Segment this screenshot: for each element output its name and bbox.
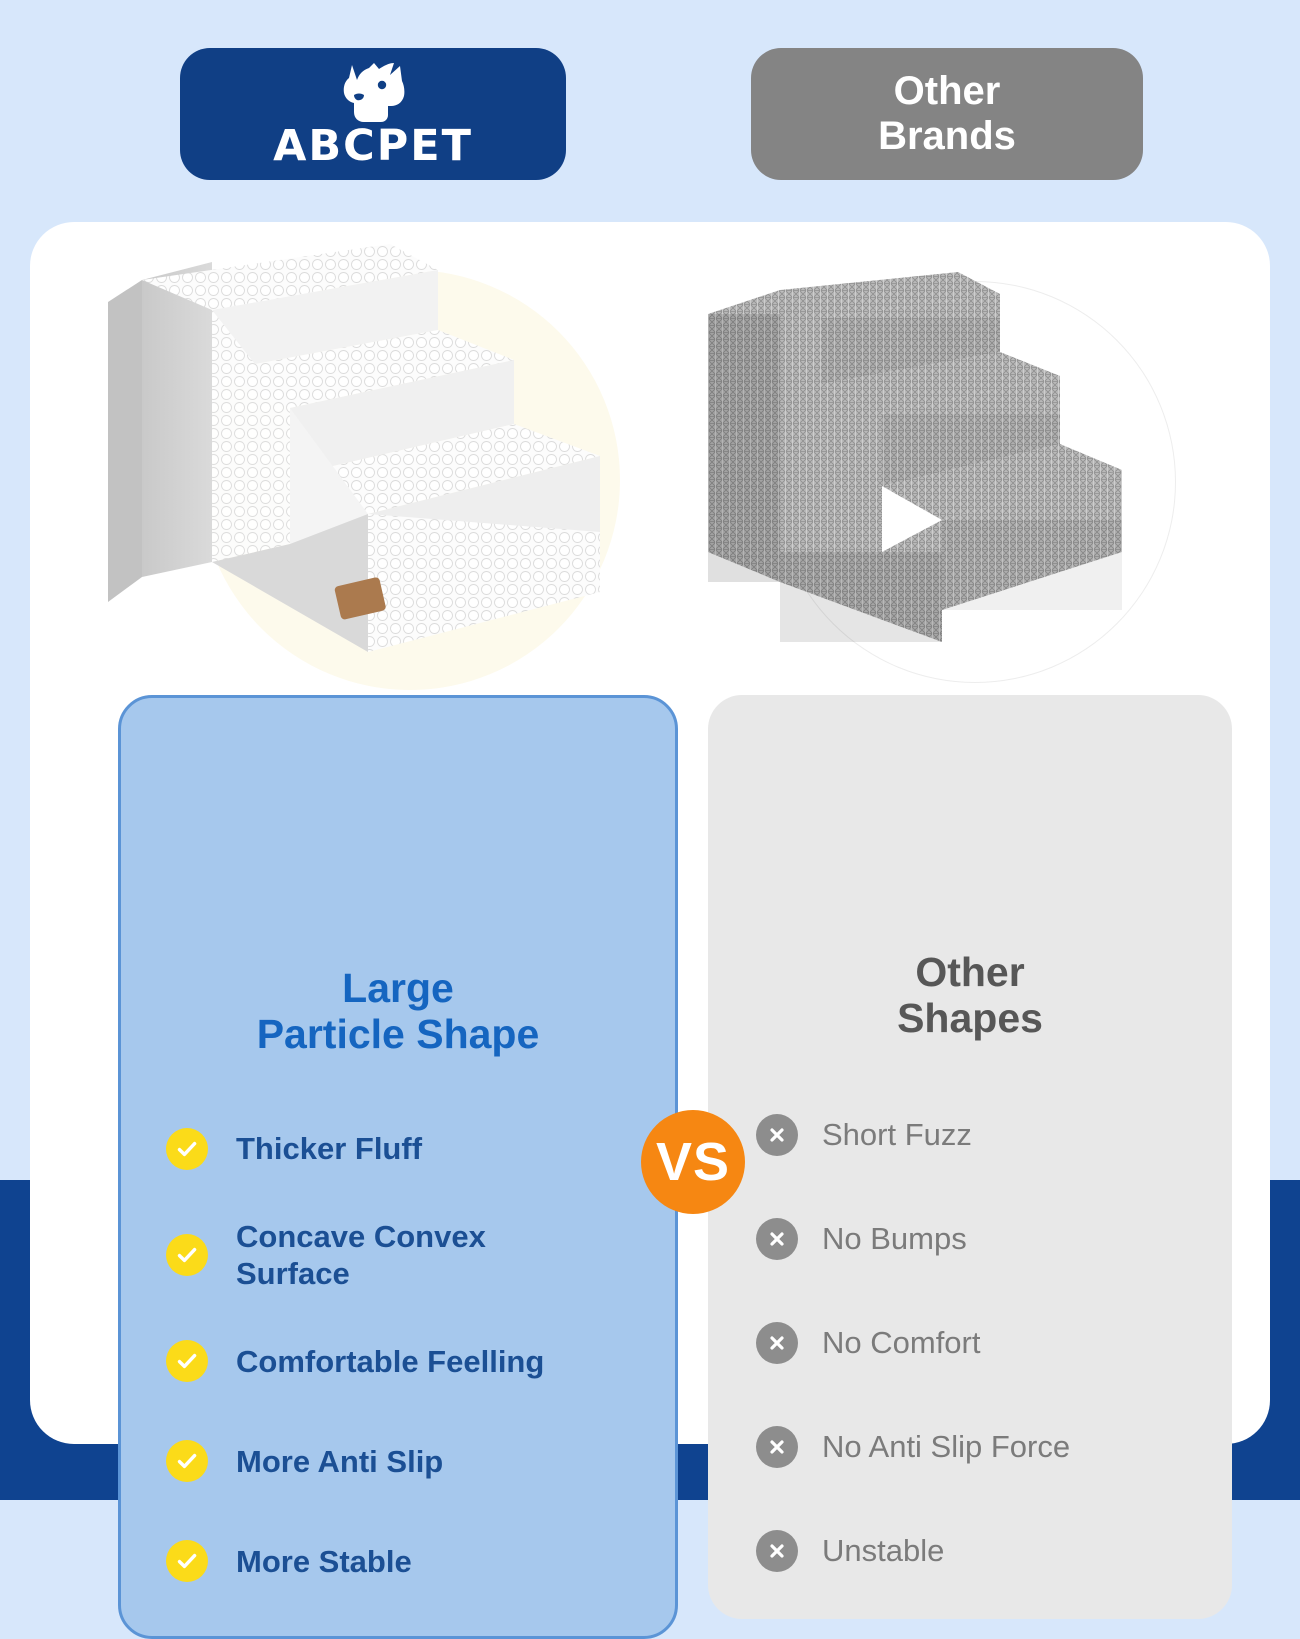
list-item: More Stable [166, 1530, 675, 1592]
vs-badge: VS [641, 1110, 745, 1214]
cross-icon [756, 1218, 798, 1260]
brand-wordmark: ABCPET [273, 125, 473, 168]
header-badges: ABCPET Other Brands [0, 48, 1300, 180]
left-feature-list: Thicker Fluff Concave Convex Surface Com… [166, 1118, 675, 1592]
dog-head-icon [330, 61, 416, 123]
check-icon [166, 1234, 208, 1276]
competitor-badge: Other Brands [751, 48, 1143, 180]
check-icon [166, 1440, 208, 1482]
cross-icon [756, 1530, 798, 1572]
left-product-image [90, 232, 650, 702]
list-item: No Anti Slip Force [756, 1416, 1232, 1478]
feature-label: Concave Convex Surface [236, 1218, 566, 1292]
cross-icon [756, 1322, 798, 1364]
competitor-badge-title: Other Brands [878, 69, 1016, 159]
feature-label: No Bumps [822, 1220, 967, 1257]
list-item: Comfortable Feelling [166, 1330, 675, 1392]
feature-label: Comfortable Feelling [236, 1343, 544, 1380]
left-panel-title: Large Particle Shape [121, 966, 675, 1058]
brand-badge: ABCPET [180, 48, 566, 180]
left-comparison-panel: Large Particle Shape Thicker Fluff Conca… [118, 695, 678, 1639]
right-comparison-panel: Other Shapes Short Fuzz No Bumps No Comf… [708, 695, 1232, 1619]
right-feature-list: Short Fuzz No Bumps No Comfort No Anti S… [756, 1104, 1232, 1582]
check-icon [166, 1340, 208, 1382]
cross-icon [756, 1114, 798, 1156]
check-icon [166, 1128, 208, 1170]
feature-label: No Anti Slip Force [822, 1428, 1070, 1465]
list-item: Short Fuzz [756, 1104, 1232, 1166]
feature-label: More Stable [236, 1543, 412, 1580]
feature-label: No Comfort [822, 1324, 980, 1361]
feature-label: Short Fuzz [822, 1116, 972, 1153]
list-item: More Anti Slip [166, 1430, 675, 1492]
check-icon [166, 1540, 208, 1582]
list-item: No Comfort [756, 1312, 1232, 1374]
cross-icon [756, 1426, 798, 1468]
feature-label: More Anti Slip [236, 1443, 443, 1480]
list-item: No Bumps [756, 1208, 1232, 1270]
comparison-card: Large Particle Shape Thicker Fluff Conca… [30, 222, 1270, 1444]
right-panel-title: Other Shapes [708, 950, 1232, 1042]
feature-label: Thicker Fluff [236, 1130, 422, 1167]
list-item: Thicker Fluff [166, 1118, 675, 1180]
feature-label: Unstable [822, 1532, 944, 1569]
list-item: Concave Convex Surface [166, 1218, 675, 1292]
right-product-image [670, 252, 1230, 692]
list-item: Unstable [756, 1520, 1232, 1582]
